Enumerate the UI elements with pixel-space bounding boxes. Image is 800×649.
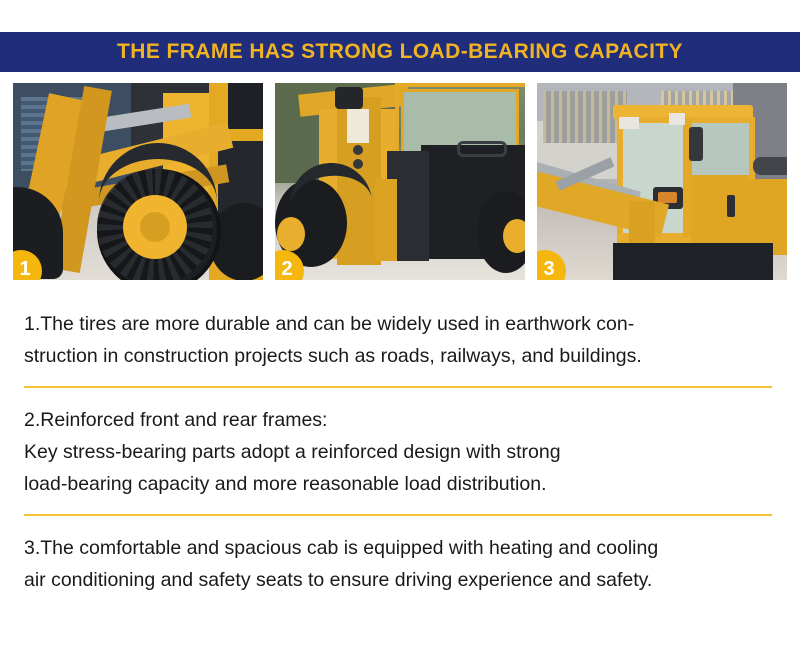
photo-3-rear-cylinder [753, 157, 787, 175]
photo-1-cab-glass [228, 83, 263, 129]
divider-2 [24, 514, 772, 516]
feature-frames-line-3: load-bearing capacity and more reasonabl… [24, 468, 776, 500]
photo-2-badge-label: 2 [281, 258, 292, 281]
photo-1-badge-label: 1 [19, 258, 30, 281]
photo-1-loader-tire[interactable]: 1 [13, 83, 263, 280]
photo-3-mirror [689, 127, 703, 161]
photo-2-fitting-upper [353, 145, 363, 155]
photo-2-reinforced-frame[interactable]: 2 [275, 83, 525, 280]
photo-3-operator-cab[interactable]: 3 [537, 83, 787, 280]
photo-2-rear-rim [503, 219, 525, 253]
photo-3-head-light-lens [658, 192, 677, 203]
feature-item-cab: 3.The comfortable and spacious cab is eq… [0, 532, 800, 596]
feature-cab-line-1: 3.The comfortable and spacious cab is eq… [24, 532, 776, 564]
photo-2-rear-frame [375, 179, 397, 261]
feature-item-frames: 2.Reinforced front and rear frames: Key … [0, 404, 800, 500]
photo-2-fitting-lower [353, 159, 363, 169]
banner-title: THE FRAME HAS STRONG LOAD-BEARING CAPACI… [117, 40, 683, 64]
feature-cab-line-2: air conditioning and safety seats to ens… [24, 564, 776, 596]
photo-3-door-handle [727, 195, 735, 217]
photo-3-work-lamp-left [619, 117, 639, 129]
feature-item-tires: 1.The tires are more durable and can be … [0, 308, 800, 372]
photo-1-wheel-hub [140, 212, 170, 242]
divider-1 [24, 386, 772, 388]
feature-panel: THE FRAME HAS STRONG LOAD-BEARING CAPACI… [0, 0, 800, 649]
feature-list: 1.The tires are more durable and can be … [0, 295, 800, 596]
photo-3-work-lamp-right [669, 113, 685, 125]
photo-gallery: 1 2 [13, 83, 787, 280]
photo-3-cab-door [691, 175, 749, 251]
banner: THE FRAME HAS STRONG LOAD-BEARING CAPACI… [0, 32, 800, 72]
photo-2-id-plate [347, 109, 369, 143]
feature-frames-line-1: 2.Reinforced front and rear frames: [24, 404, 776, 436]
photo-2-cover [335, 87, 363, 109]
feature-tires-line-1: 1.The tires are more durable and can be … [24, 308, 776, 340]
feature-frames-line-2: Key stress-bearing parts adopt a reinfor… [24, 436, 776, 468]
photo-3-chassis [613, 243, 773, 280]
photo-2-handrail [457, 141, 507, 157]
feature-tires-line-2: struction in construction projects such … [24, 340, 776, 372]
photo-3-badge-label: 3 [543, 258, 554, 281]
